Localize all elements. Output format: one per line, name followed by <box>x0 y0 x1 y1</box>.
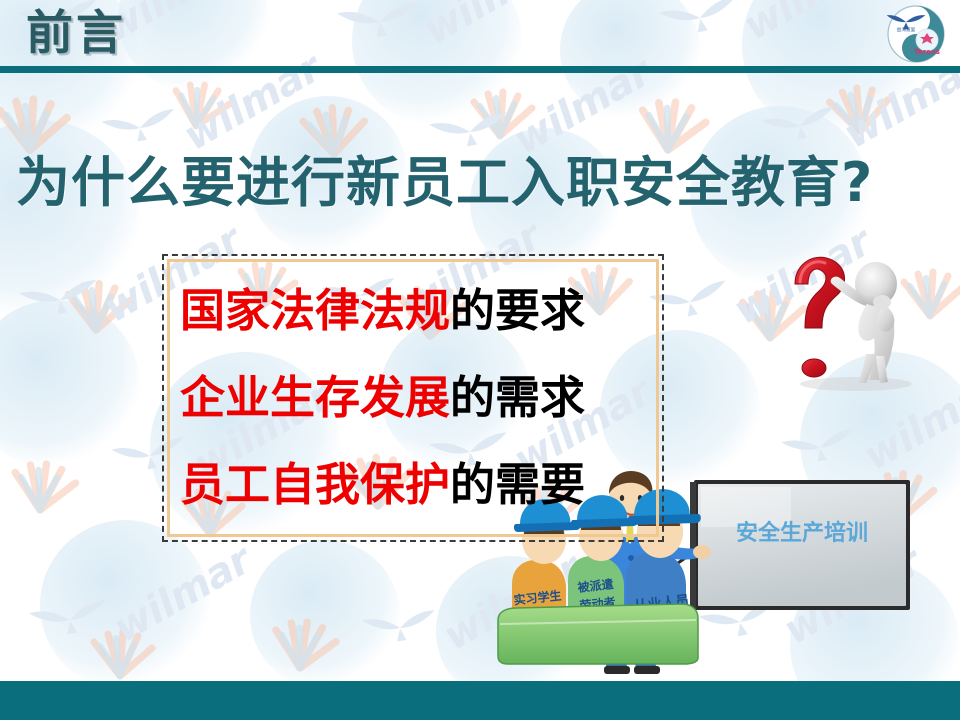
reasons-box: 国家法律法规的要求 企业生存发展的需求 员工自我保护的需要 <box>162 254 664 542</box>
reason-rest: 的需求 <box>450 371 585 424</box>
page-title: 前言 <box>26 3 126 65</box>
reason-emphasis: 企业生存发展 <box>180 371 450 424</box>
classroom-desk <box>498 604 698 664</box>
watermark-text: wilmar <box>106 537 259 652</box>
footer-bar <box>0 681 960 720</box>
tereos-wilmar-logo: 益海嘉里 Tereos <box>884 4 948 64</box>
reason-rest: 的要求 <box>450 284 585 337</box>
logo-chinese-mark: 益海嘉里 <box>897 26 916 33</box>
reason-rest: 的需要 <box>450 458 585 511</box>
reason-emphasis: 员工自我保护 <box>180 458 450 511</box>
reason-line: 国家法律法规的要求 <box>180 282 585 340</box>
header-divider-rule <box>0 66 960 73</box>
page-question-heading: 为什么要进行新员工入职安全教育? <box>16 150 873 216</box>
slide-header: 前言 <box>0 0 960 75</box>
reason-line: 企业生存发展的需求 <box>180 369 585 427</box>
slide-root: wilmar wilmar wilmar wilmar wilmar wilma… <box>0 0 960 720</box>
reasons-box-inner: 国家法律法规的要求 企业生存发展的需求 员工自我保护的需要 <box>167 259 659 537</box>
whiteboard-text: 安全生产培训 <box>736 520 868 546</box>
question-mark-figure-image <box>770 244 950 404</box>
reason-line: 员工自我保护的需要 <box>180 456 585 514</box>
reason-emphasis: 国家法律法规 <box>180 284 450 337</box>
logo-brand-text: Tereos <box>914 48 940 56</box>
whiteboard: 安全生产培训 <box>690 480 910 610</box>
